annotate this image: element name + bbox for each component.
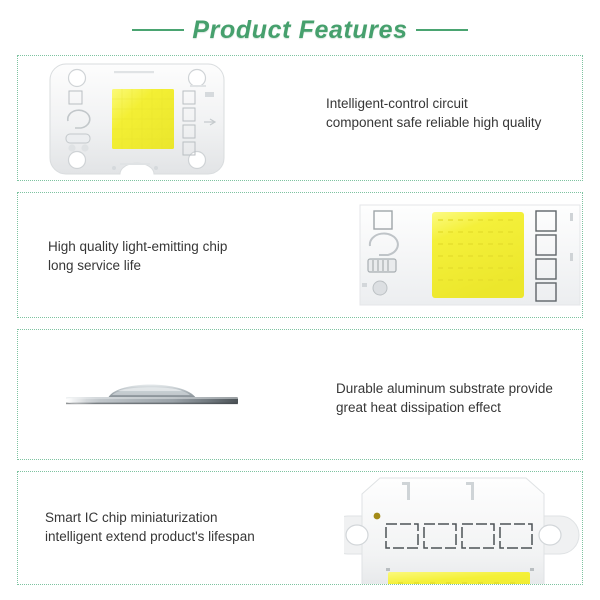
- title-rule-left: [132, 29, 184, 31]
- page-title: Product Features: [0, 12, 600, 48]
- page-title-text: Product Features: [184, 18, 415, 43]
- feature-text-2: High quality light-emitting chip long se…: [48, 237, 227, 275]
- led-cob-chip-closeup-emitter-image: [356, 201, 583, 309]
- title-rule-right: [416, 29, 468, 31]
- feature-row-3: Durable aluminum substrate provide great…: [17, 329, 583, 460]
- feature-row-2: High quality light-emitting chip long se…: [17, 192, 583, 318]
- smart-ic-chip-topview-image: [344, 476, 583, 585]
- feature-row-1: Intelligent-control circuit component sa…: [17, 55, 583, 181]
- feature-text-3: Durable aluminum substrate provide great…: [336, 379, 553, 417]
- feature-text-1: Intelligent-control circuit component sa…: [326, 94, 541, 132]
- feature-row-4: Smart IC chip miniaturization intelligen…: [17, 471, 583, 585]
- led-cob-chip-full-view-image: [44, 58, 230, 180]
- aluminum-substrate-side-profile-image: [56, 368, 248, 416]
- feature-text-4: Smart IC chip miniaturization intelligen…: [45, 508, 255, 546]
